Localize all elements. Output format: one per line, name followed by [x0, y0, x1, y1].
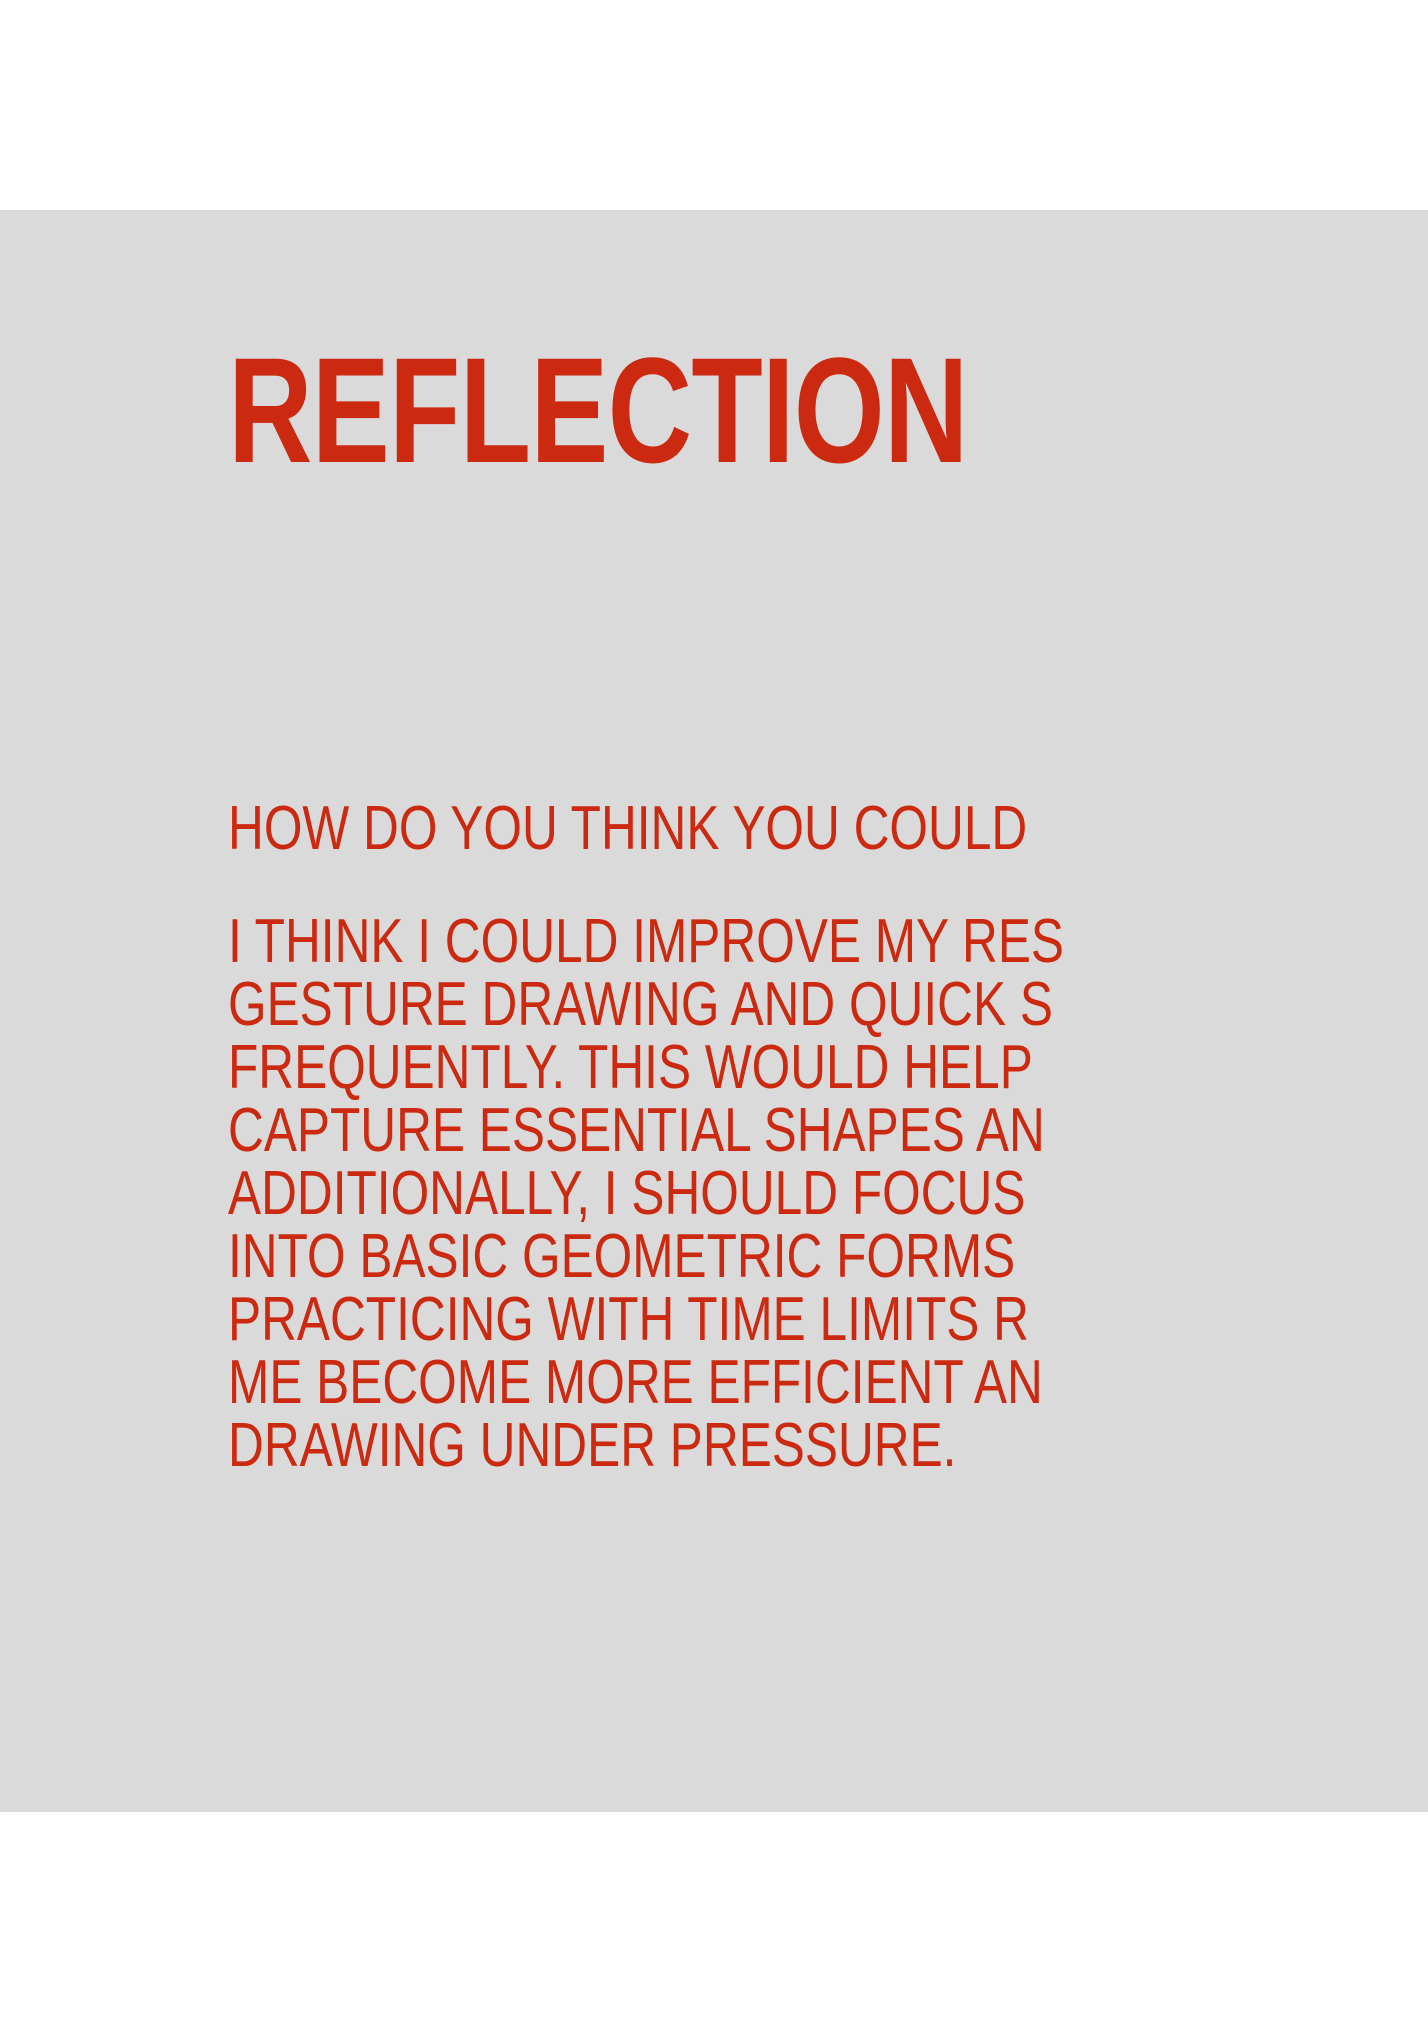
answer-line: CAPTURE ESSENTIAL SHAPES AN [228, 1099, 1064, 1162]
answer-line: ADDITIONALLY, I SHOULD FOCUS [228, 1162, 1064, 1225]
answer-line: INTO BASIC GEOMETRIC FORMS [228, 1225, 1064, 1288]
page-title: REFLECTION [228, 335, 968, 485]
answer-line: GESTURE DRAWING AND QUICK S [228, 973, 1064, 1036]
slide-panel: REFLECTION HOW DO YOU THINK YOU COULD I … [0, 210, 1428, 1812]
page-canvas: REFLECTION HOW DO YOU THINK YOU COULD I … [0, 0, 1428, 2018]
answer-line: FREQUENTLY. THIS WOULD HELP [228, 1036, 1064, 1099]
answer-line: I THINK I COULD IMPROVE MY RES [228, 910, 1064, 973]
reflection-answer: I THINK I COULD IMPROVE MY RES GESTURE D… [228, 910, 1064, 1477]
answer-line: ME BECOME MORE EFFICIENT AN [228, 1351, 1064, 1414]
reflection-question: HOW DO YOU THINK YOU COULD [228, 798, 1027, 860]
answer-line: PRACTICING WITH TIME LIMITS R [228, 1288, 1064, 1351]
answer-line: DRAWING UNDER PRESSURE. [228, 1414, 1064, 1477]
